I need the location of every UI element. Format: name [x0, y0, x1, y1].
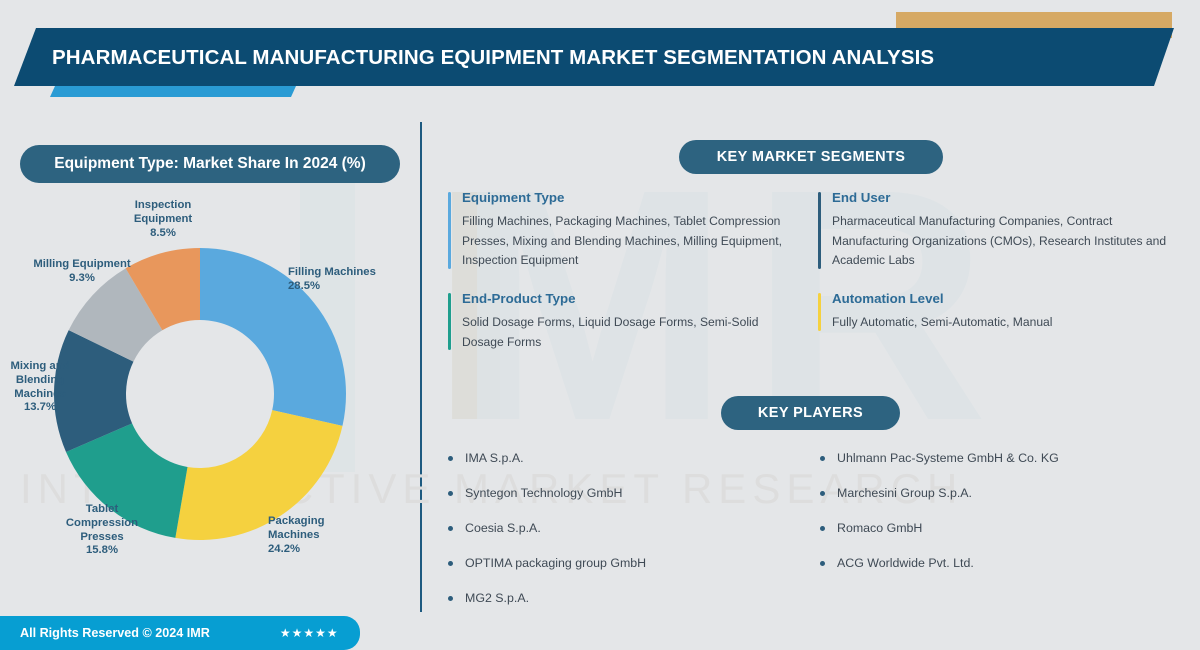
- bullet-icon: [820, 491, 825, 496]
- key-player-item: Syntegon Technology GmbH: [448, 485, 818, 520]
- bullet-icon: [820, 561, 825, 566]
- footer-bar: All Rights Reserved © 2024 IMR ★★★★★: [0, 616, 360, 650]
- segment-accent-bar: [448, 293, 451, 350]
- key-player-item: MG2 S.p.A.: [448, 590, 818, 625]
- segment-card-title: Equipment Type: [462, 190, 798, 205]
- segment-accent-bar: [818, 293, 821, 331]
- segment-card-body: Pharmaceutical Manufacturing Companies, …: [832, 212, 1184, 271]
- footer-copyright: All Rights Reserved © 2024 IMR: [20, 626, 210, 640]
- key-player-item: ACG Worldwide Pvt. Ltd.: [820, 555, 1190, 590]
- key-player-name: Syntegon Technology GmbH: [465, 485, 623, 502]
- key-player-name: OPTIMA packaging group GmbH: [465, 555, 646, 572]
- bullet-icon: [448, 596, 453, 601]
- slice-label-inspection-equipment: Inspection Equipment 8.5%: [116, 199, 210, 240]
- key-player-name: Coesia S.p.A.: [465, 520, 541, 537]
- segment-card-end-user: End User Pharmaceutical Manufacturing Co…: [818, 190, 1184, 271]
- bullet-icon: [820, 526, 825, 531]
- bullet-icon: [448, 456, 453, 461]
- key-player-item: OPTIMA packaging group GmbH: [448, 555, 818, 590]
- key-player-name: ACG Worldwide Pvt. Ltd.: [837, 555, 974, 572]
- header-blue-accent: [50, 86, 296, 97]
- segment-card-automation-level: Automation Level Fully Automatic, Semi-A…: [818, 291, 1184, 333]
- footer-star-rating: ★★★★★: [280, 626, 339, 640]
- bullet-icon: [448, 526, 453, 531]
- key-player-item: Marchesini Group S.p.A.: [820, 485, 1190, 520]
- segment-card-end-product-type: End-Product Type Solid Dosage Forms, Liq…: [448, 291, 798, 352]
- segment-accent-bar: [448, 192, 451, 269]
- key-market-segments-pill: KEY MARKET SEGMENTS: [679, 140, 943, 174]
- page-title: PHARMACEUTICAL MANUFACTURING EQUIPMENT M…: [52, 46, 934, 70]
- chart-title-pill: Equipment Type: Market Share In 2024 (%): [20, 145, 400, 183]
- slice-label-filling-machines: Filling Machines 28.5%: [288, 266, 376, 294]
- segment-card-title: End-Product Type: [462, 291, 798, 306]
- bullet-icon: [820, 456, 825, 461]
- key-player-item: Romaco GmbH: [820, 520, 1190, 555]
- key-player-item: Uhlmann Pac-Systeme GmbH & Co. KG: [820, 450, 1190, 485]
- vertical-divider: [420, 122, 422, 612]
- key-player-item: Coesia S.p.A.: [448, 520, 818, 555]
- slice-label-tablet-compression: Tablet Compression Presses 15.8%: [48, 503, 156, 558]
- segment-card-body: Fully Automatic, Semi-Automatic, Manual: [832, 313, 1184, 333]
- segment-card-equipment-type: Equipment Type Filling Machines, Packagi…: [448, 190, 798, 271]
- segment-card-body: Solid Dosage Forms, Liquid Dosage Forms,…: [462, 313, 798, 352]
- key-player-name: Marchesini Group S.p.A.: [837, 485, 972, 502]
- key-players-pill: KEY PLAYERS: [721, 396, 900, 430]
- key-player-name: MG2 S.p.A.: [465, 590, 529, 607]
- key-players-list-left: IMA S.p.A.Syntegon Technology GmbHCoesia…: [448, 450, 818, 625]
- bullet-icon: [448, 491, 453, 496]
- segment-card-title: End User: [832, 190, 1184, 205]
- key-player-name: Romaco GmbH: [837, 520, 922, 537]
- key-player-name: IMA S.p.A.: [465, 450, 524, 467]
- segment-accent-bar: [818, 192, 821, 269]
- bullet-icon: [448, 561, 453, 566]
- key-player-item: IMA S.p.A.: [448, 450, 818, 485]
- key-player-name: Uhlmann Pac-Systeme GmbH & Co. KG: [837, 450, 1059, 467]
- slice-label-milling-equipment: Milling Equipment 9.3%: [24, 258, 140, 286]
- segment-card-title: Automation Level: [832, 291, 1184, 306]
- slice-label-packaging-machines: Packaging Machines 24.2%: [268, 515, 325, 556]
- slice-label-mixing-blending: Mixing and Blending Machines 13.7%: [0, 360, 80, 415]
- key-players-list-right: Uhlmann Pac-Systeme GmbH & Co. KGMarches…: [820, 450, 1190, 590]
- segment-card-body: Filling Machines, Packaging Machines, Ta…: [462, 212, 798, 271]
